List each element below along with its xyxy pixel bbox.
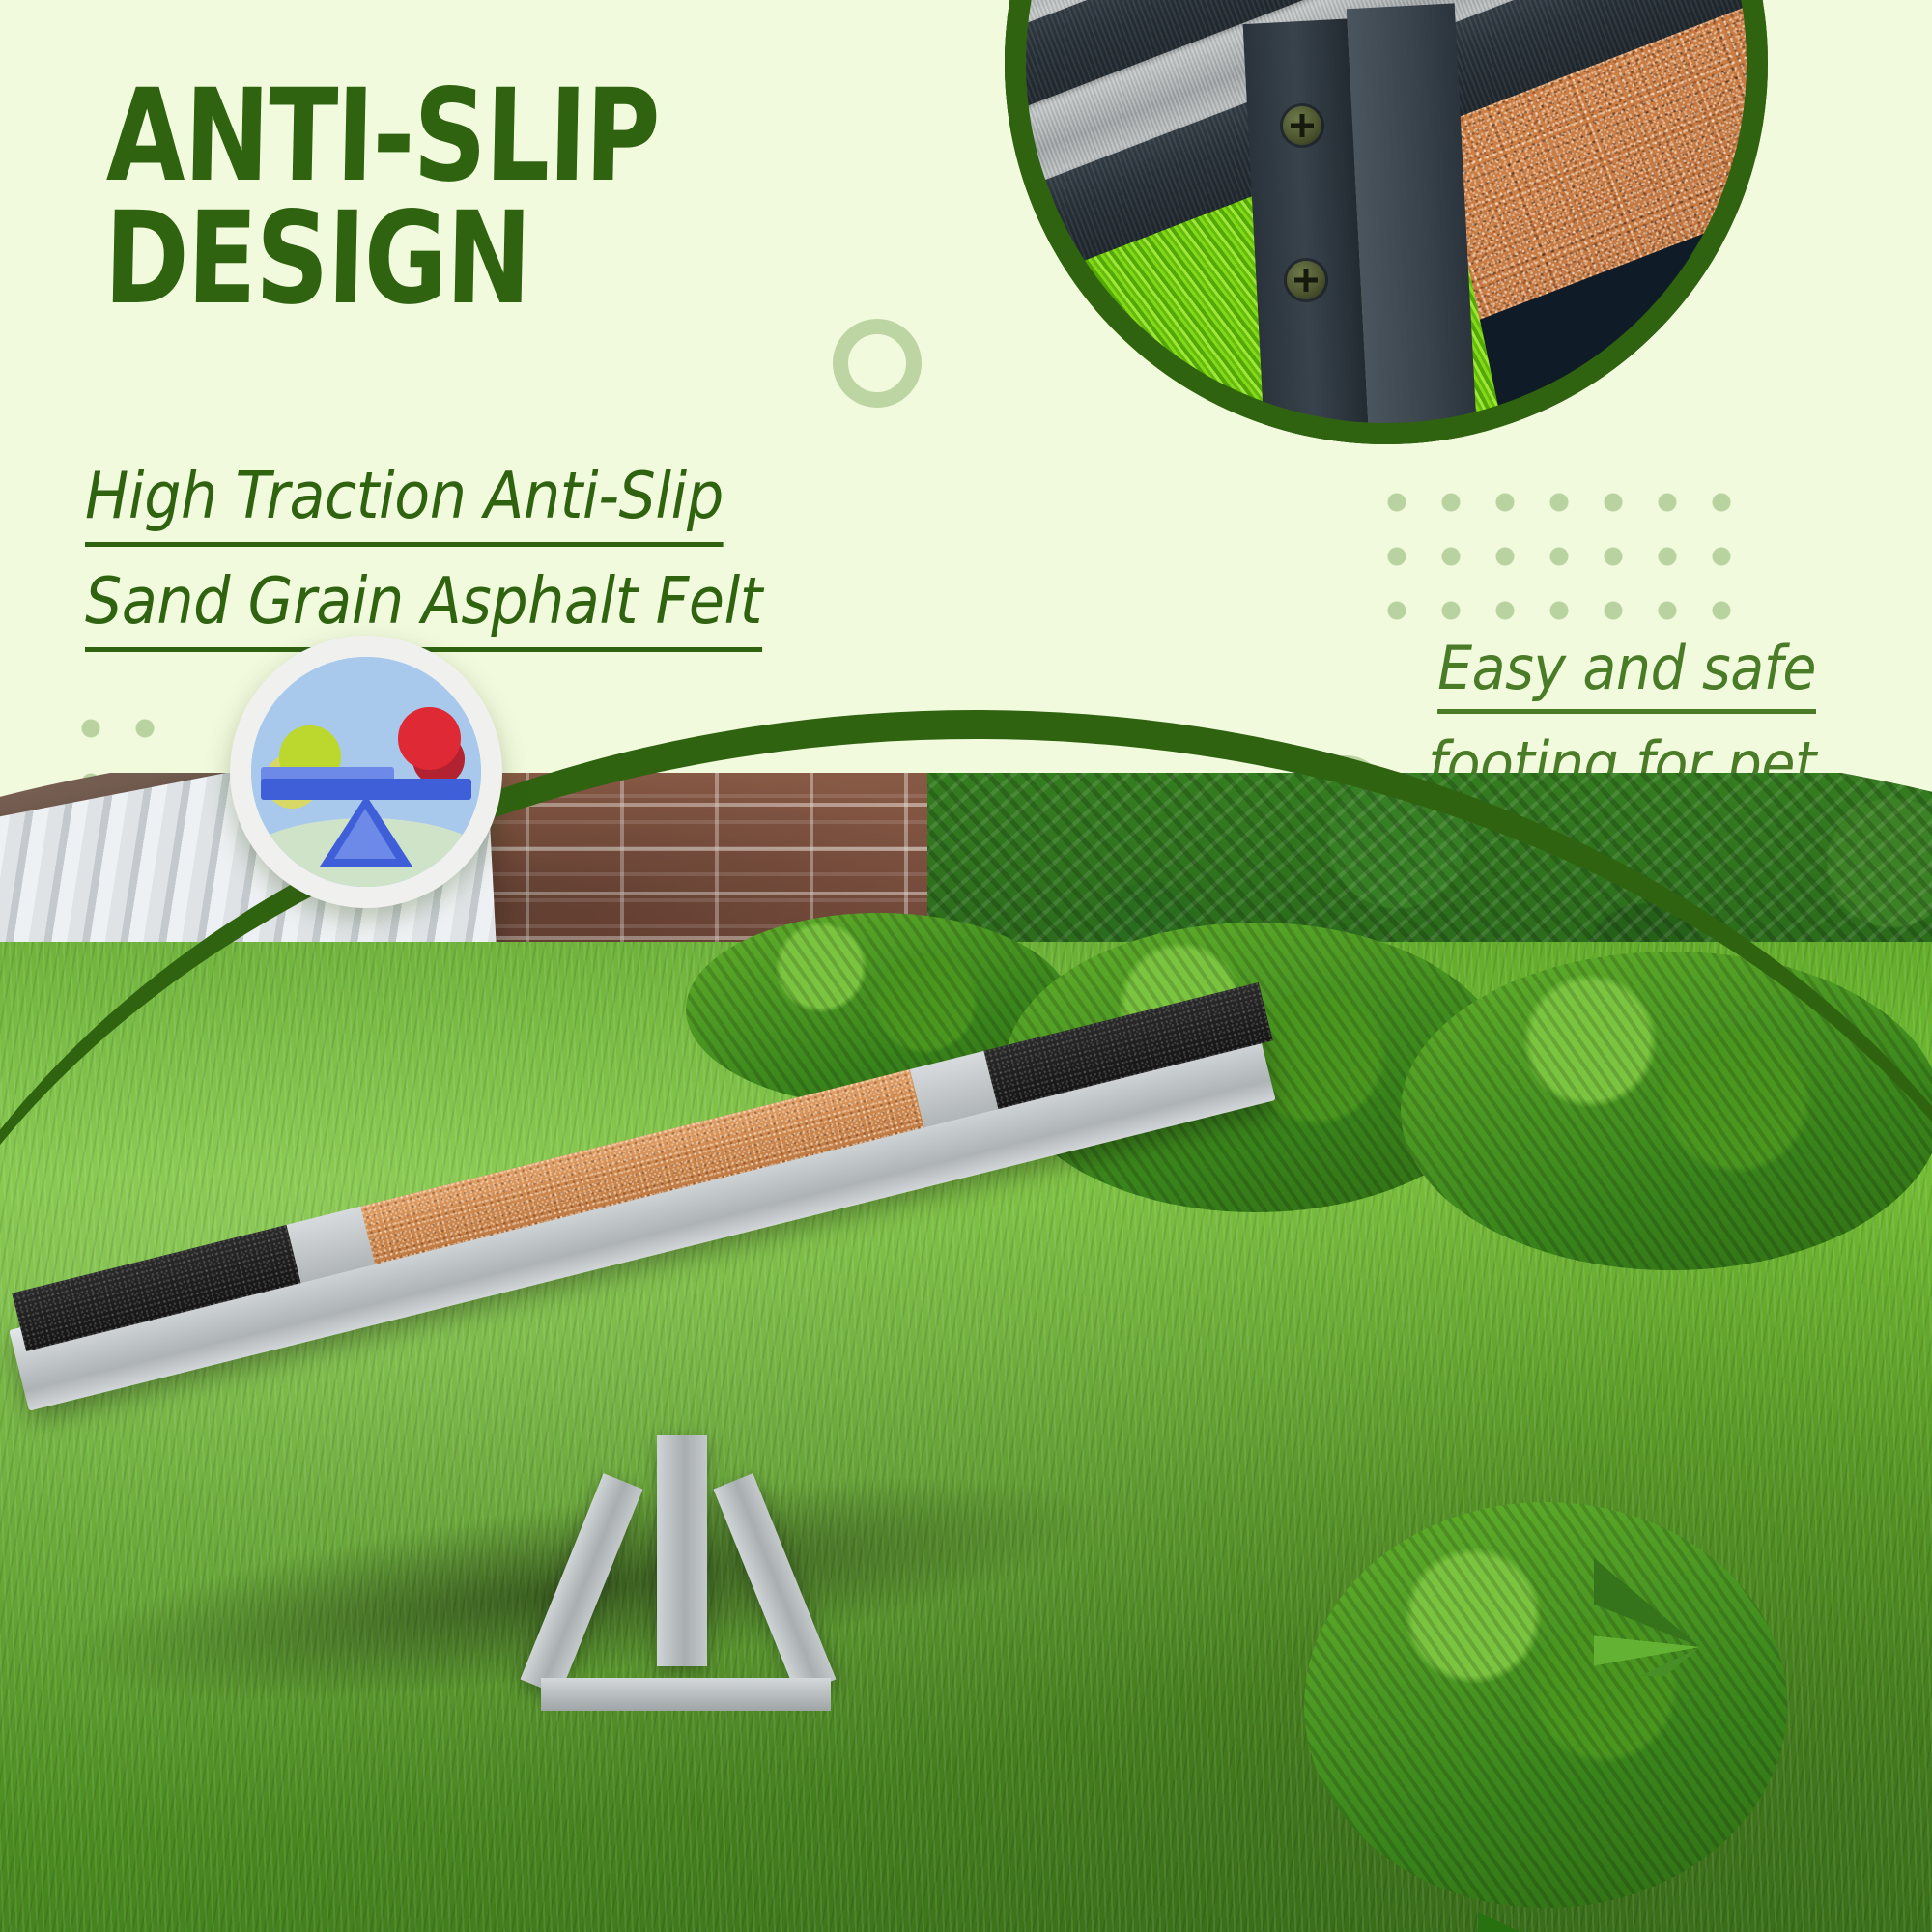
subheading-left-line-1: High Traction Anti-Slip <box>85 454 724 547</box>
subheading-left-line-2: Sand Grain Asphalt Felt <box>85 559 762 652</box>
page-title: ANTI-SLIP DESIGN <box>103 75 696 320</box>
closeup-frame-felt-photo <box>1005 0 1768 444</box>
base-foot-rail <box>541 1678 831 1711</box>
subheading-left: High Traction Anti-Slip Sand Grain Aspha… <box>85 454 935 665</box>
ring-outline-upper-icon <box>833 319 922 408</box>
badge-ball-red <box>398 707 460 769</box>
foreground-plant-right <box>1478 1734 1797 1932</box>
seesaw-icon <box>251 657 481 887</box>
dot-grid-right <box>1370 475 1756 643</box>
badge-fulcrum-highlight <box>334 809 396 859</box>
seesaw-icon-badge <box>230 636 502 908</box>
poster-canvas: ANTI-SLIP DESIGN High Traction Anti-Slip… <box>0 0 1932 1932</box>
